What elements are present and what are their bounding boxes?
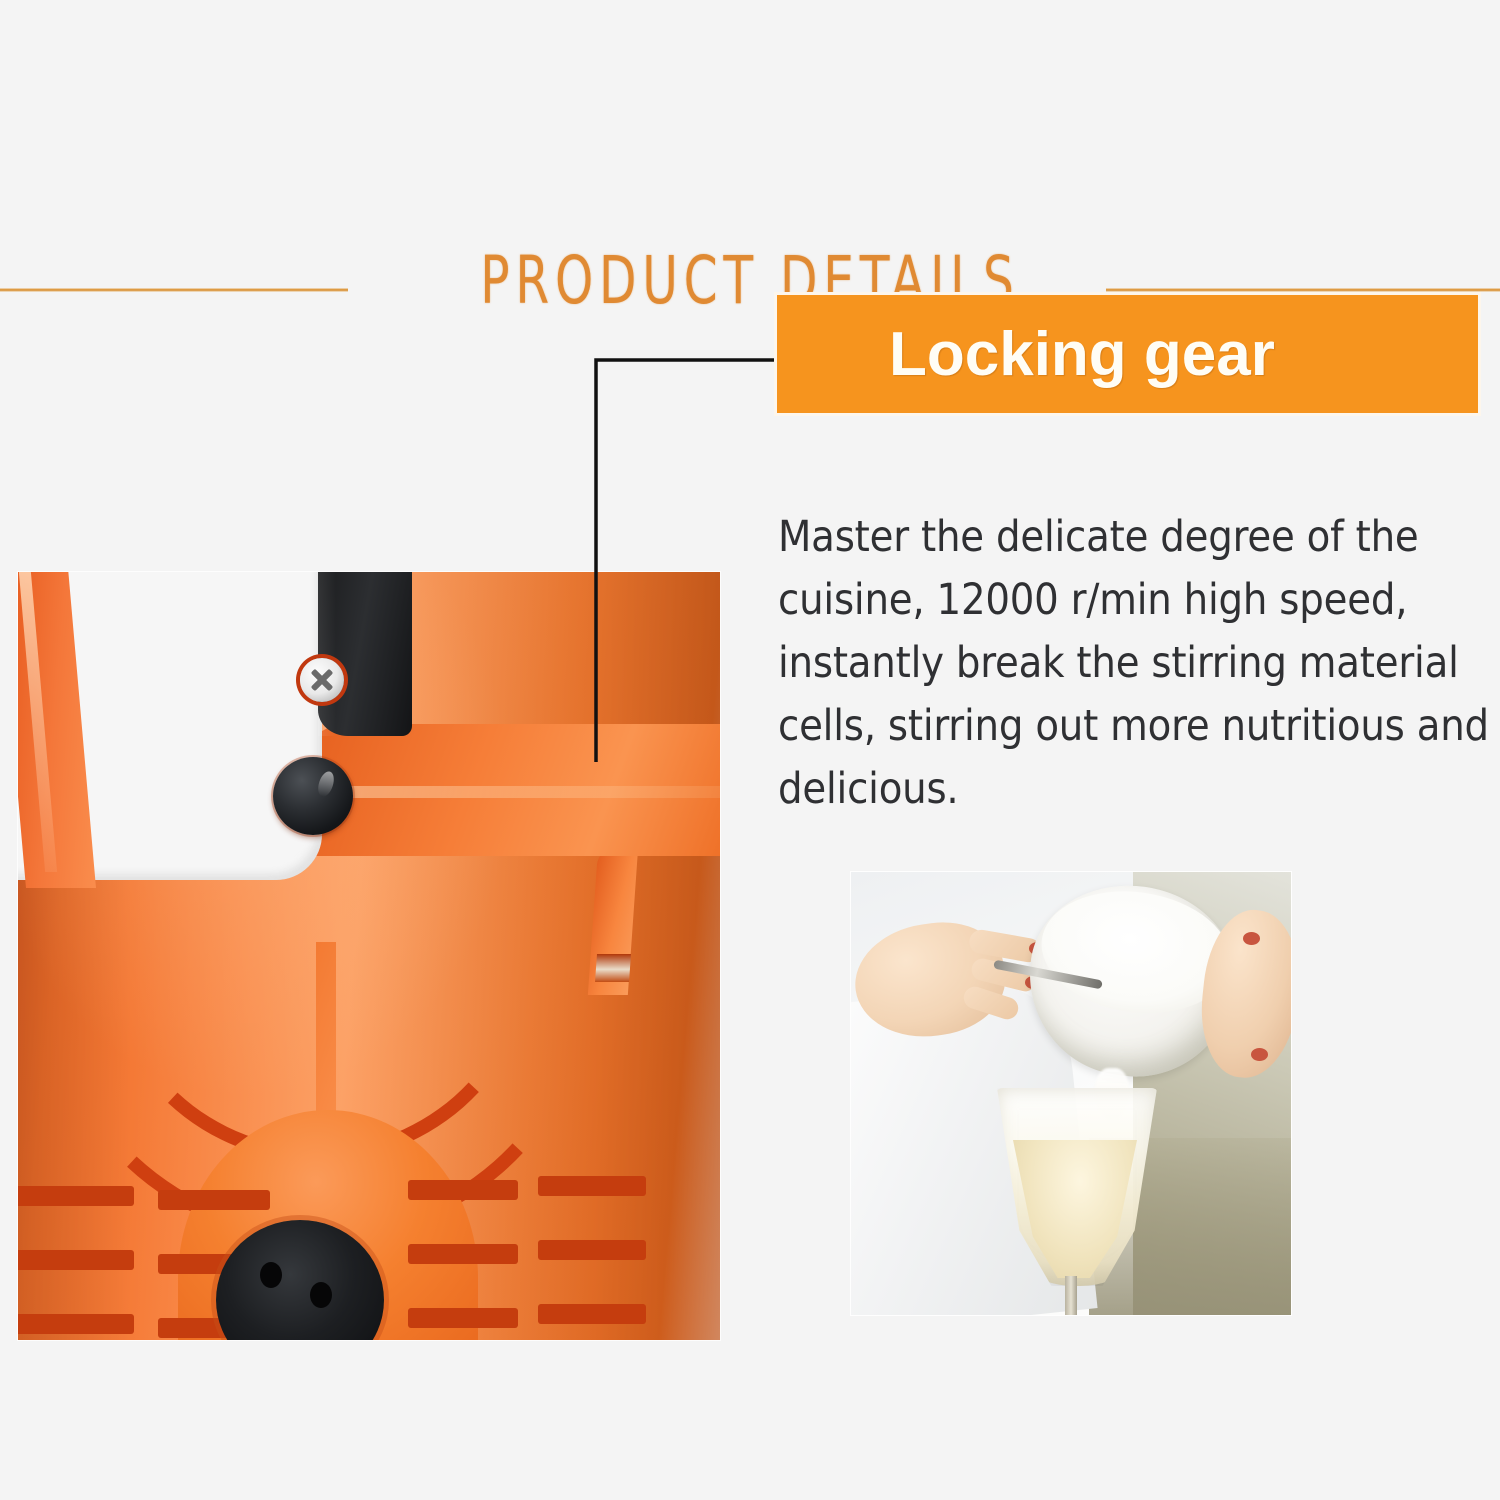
usage-example-photo — [851, 872, 1291, 1315]
glass-stem — [1065, 1276, 1077, 1315]
vent-slot-right-5 — [408, 1308, 518, 1328]
vent-slot-left-3 — [18, 1250, 134, 1270]
page-header: PRODUCT DETAILS — [0, 120, 1500, 225]
product-detail-photo — [18, 572, 720, 1340]
vent-slot-right-3 — [408, 1244, 518, 1264]
fingernail-4 — [1251, 1048, 1268, 1061]
black-rubber-handle — [318, 572, 412, 736]
socket-hole-2 — [310, 1282, 332, 1308]
fingernail-3 — [1243, 932, 1260, 945]
housing-shoulder-highlight — [318, 786, 720, 798]
vent-slot-right-1 — [408, 1180, 518, 1200]
vent-slot-right-2 — [538, 1176, 646, 1196]
vent-slot-right-4 — [538, 1240, 646, 1260]
side-clip-end — [595, 954, 631, 982]
callout-title: Locking gear — [889, 319, 1275, 390]
vent-slot-left-5 — [18, 1314, 134, 1334]
vent-slot-right-6 — [538, 1304, 646, 1324]
locking-gear-knob — [273, 757, 353, 835]
vent-slot-left-1 — [18, 1186, 134, 1206]
callout-banner: Locking gear — [777, 295, 1478, 413]
phillips-screw-icon — [300, 658, 344, 702]
socket-hole-1 — [260, 1262, 282, 1288]
vent-slot-left-2 — [158, 1190, 270, 1210]
callout-body-text: Master the delicate degree of the cuisin… — [778, 506, 1494, 821]
